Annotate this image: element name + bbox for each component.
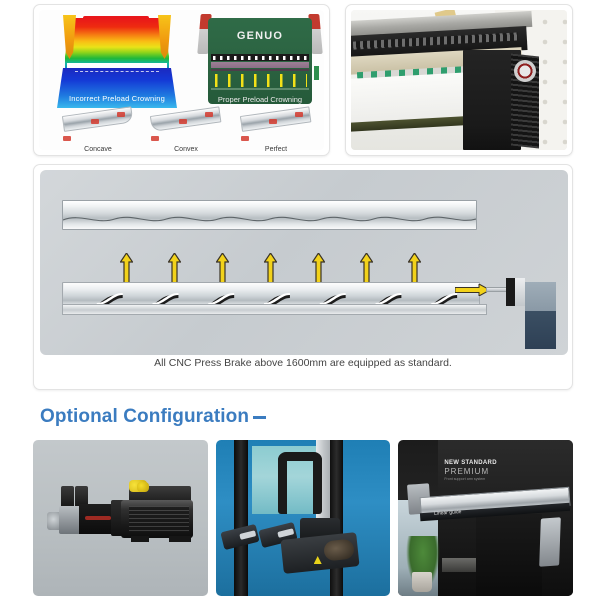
press-brake-photo-panel bbox=[345, 4, 573, 156]
crowning-system-panel: All CNC Press Brake above 1600mm are equ… bbox=[33, 164, 573, 390]
force-arrow bbox=[408, 253, 421, 283]
motor-body-lower bbox=[525, 311, 556, 349]
genuo-logo: GENUO bbox=[208, 30, 312, 42]
option-image-laser-safety[interactable] bbox=[216, 440, 391, 596]
dimension-marker bbox=[63, 136, 71, 141]
fea-caption: Incorrect Preload Crowning bbox=[57, 94, 177, 103]
laser-frame-post-left bbox=[234, 440, 248, 596]
laser-carry-handle bbox=[278, 452, 322, 514]
dimension-marker bbox=[91, 119, 99, 124]
dimension-marker bbox=[241, 136, 249, 141]
crowning-illustration: Incorrect Preload Crowning GENUO Proper … bbox=[39, 10, 324, 150]
servo-red-cable bbox=[85, 516, 111, 520]
top-row: Incorrect Preload Crowning GENUO Proper … bbox=[33, 4, 573, 159]
gauge-sub-line: Front support arm system bbox=[444, 477, 485, 481]
press-brake-photo bbox=[351, 10, 567, 150]
motor-coupling bbox=[506, 278, 515, 306]
specimen-label: Concave bbox=[61, 146, 135, 153]
specimen-convex: Convex bbox=[149, 110, 223, 152]
proper-separator-line bbox=[211, 69, 309, 71]
upper-crowning-bar bbox=[62, 200, 477, 230]
specimen-concave: Concave bbox=[61, 110, 135, 152]
title-dash-icon bbox=[253, 416, 266, 419]
proper-base-line bbox=[211, 88, 309, 90]
laser-sensor-small-1 bbox=[220, 524, 259, 550]
motor-body-upper bbox=[525, 282, 556, 311]
servo-cooling-fins bbox=[129, 506, 189, 532]
drive-rod bbox=[486, 287, 508, 292]
gauge-plant-pot bbox=[412, 572, 432, 592]
proper-crowning-strip bbox=[211, 62, 309, 68]
force-arrow bbox=[216, 253, 229, 283]
specimen-label: Convex bbox=[149, 146, 223, 153]
gauge-brand-plate: NEW STANDARD PREMIUM Front support arm s… bbox=[444, 460, 498, 486]
force-arrow bbox=[120, 253, 133, 283]
dimension-marker bbox=[179, 119, 187, 124]
page-root: Incorrect Preload Crowning GENUO Proper … bbox=[0, 0, 600, 600]
photo-fan bbox=[514, 60, 536, 82]
crowning-system-diagram bbox=[40, 170, 568, 355]
dimension-marker bbox=[151, 136, 159, 141]
gauge-model-name: PREMIUM bbox=[444, 467, 489, 476]
force-arrow bbox=[168, 253, 181, 283]
option-image-servo-pump[interactable] bbox=[33, 440, 208, 596]
force-arrow bbox=[312, 253, 325, 283]
gauge-bracket-right bbox=[540, 517, 562, 567]
crowning-force-arrows bbox=[120, 253, 460, 283]
fea-dashed-line bbox=[75, 71, 159, 72]
dimension-marker bbox=[269, 119, 277, 124]
force-arrow bbox=[360, 253, 373, 283]
servo-mount-foot bbox=[131, 536, 149, 542]
optional-configuration-gallery: NEW STANDARD PREMIUM Front support arm s… bbox=[33, 440, 573, 596]
option-image-front-support[interactable]: NEW STANDARD PREMIUM Front support arm s… bbox=[398, 440, 573, 596]
page-title-text: Optional Configuration bbox=[40, 406, 249, 427]
upper-bar-wave-line bbox=[63, 212, 476, 226]
proper-force-arrows bbox=[215, 74, 307, 87]
proper-caption: Proper Preload Crowning bbox=[208, 95, 312, 104]
specimen-label: Perfect bbox=[239, 146, 313, 153]
proper-side-tab bbox=[314, 66, 319, 80]
dimension-marker bbox=[295, 112, 303, 117]
servo-reservoir-left bbox=[61, 486, 74, 508]
gauge-dark-panel bbox=[476, 514, 542, 596]
dimension-marker bbox=[205, 112, 213, 117]
specimen-perfect: Perfect bbox=[239, 110, 313, 152]
dimension-marker bbox=[117, 112, 125, 117]
proper-crowning-figure: GENUO Proper Preload Crowning bbox=[199, 16, 321, 108]
crowning-caption: All CNC Press Brake above 1600mm are equ… bbox=[34, 357, 572, 369]
servo-yellow-valve-2 bbox=[137, 482, 149, 492]
page-title: Optional Configuration bbox=[40, 406, 266, 428]
proper-die-dots bbox=[213, 56, 307, 60]
force-arrow bbox=[264, 253, 277, 283]
gauge-brand-name: NEW STANDARD bbox=[444, 460, 497, 466]
servo-mount-foot bbox=[169, 536, 191, 542]
preload-crowning-panel: Incorrect Preload Crowning GENUO Proper … bbox=[33, 4, 330, 156]
motor-flange bbox=[515, 278, 525, 306]
fea-heatmap-figure: Incorrect Preload Crowning bbox=[57, 16, 177, 108]
crowning-base-plate bbox=[62, 304, 487, 315]
